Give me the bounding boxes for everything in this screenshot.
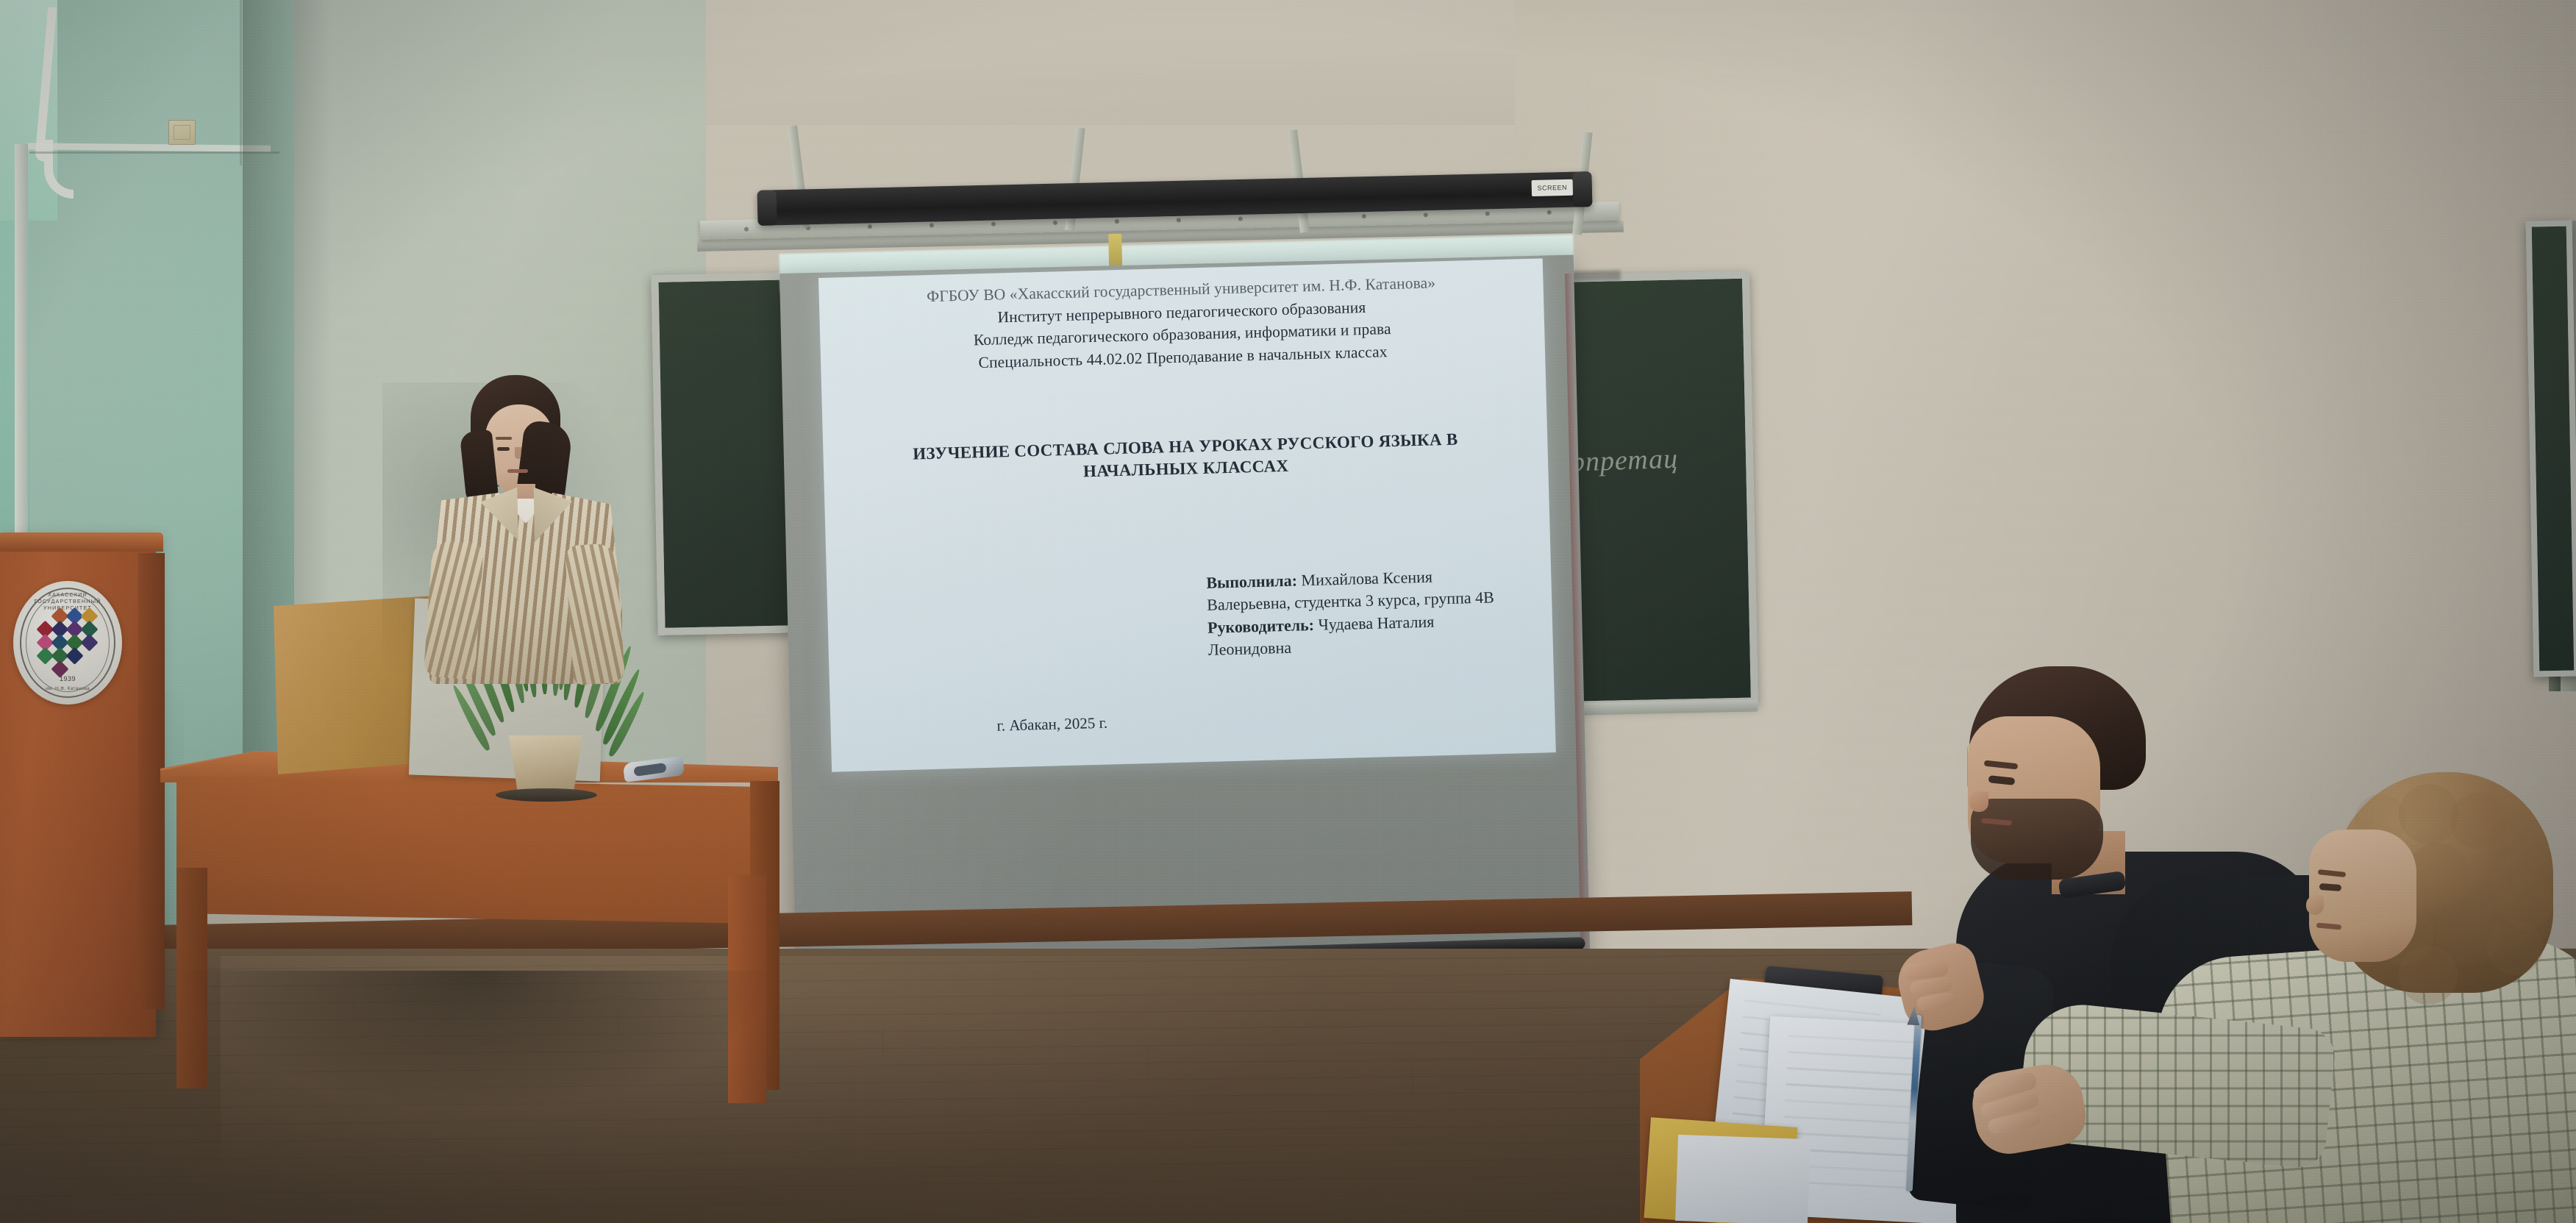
man-beard	[1971, 799, 2103, 880]
roller-cap-left	[757, 190, 777, 226]
classroom-photo-scene: интерпретац SCREEN ФГБОУ ВО «Хакасский г…	[0, 0, 2576, 1223]
presenter-nose	[515, 447, 521, 459]
bracket-hole	[1053, 221, 1057, 225]
emblem-diamond-grid	[39, 610, 96, 673]
emblem-diamond-11	[80, 634, 98, 652]
bracket-hole	[1177, 218, 1181, 222]
paper-ruled-line	[1788, 1035, 1918, 1044]
window-jamb	[15, 144, 28, 600]
folder-sheet	[1675, 1135, 1810, 1223]
slide-performer-label: Выполнила:	[1206, 571, 1297, 591]
presenter-eye-left	[497, 447, 510, 451]
bracket-hole	[868, 224, 872, 229]
slide-city-year: г. Абакан, 2025 г.	[996, 703, 1521, 735]
bracket-hole	[991, 222, 996, 227]
woman-hair-curl	[2399, 784, 2459, 844]
floor-plank-seam	[1412, 1066, 1413, 1096]
emblem-arc-text: ХАКАССКИЙ ГОСУДАРСТВЕННЫЙ УНИВЕРСИТЕТ	[15, 591, 120, 611]
emblem-diamond-14	[65, 647, 83, 665]
chalkboard-far-right	[2526, 220, 2576, 677]
power-outlet-left	[168, 120, 196, 145]
slide-supervisor-label: Руководитель:	[1207, 616, 1315, 637]
bracket-hole	[1485, 212, 1490, 216]
plant-pot	[504, 735, 587, 793]
university-emblem: ХАКАССКИЙ ГОСУДАРСТВЕННЫЙ УНИВЕРСИТЕТ 19…	[13, 581, 122, 705]
woman-face	[2309, 830, 2416, 962]
woman-nose	[2306, 896, 2324, 915]
slide-title: ИЗУЧЕНИЕ СОСТАВА СЛОВА НА УРОКАХ РУССКОГ…	[857, 427, 1514, 489]
bracket-hole	[1238, 217, 1243, 221]
wall-vertical-seam	[240, 0, 242, 165]
man-nose	[1969, 791, 1988, 812]
presenter-brow-left	[496, 437, 512, 440]
plant-saucer	[496, 788, 597, 802]
presenter-mouth	[507, 469, 528, 473]
woman-hair-curl	[2487, 919, 2543, 975]
screen-brand-label: SCREEN	[1532, 179, 1573, 196]
emblem-year: 1939	[13, 675, 122, 682]
slide-header: ФГБОУ ВО «Хакасский государственный унив…	[852, 270, 1511, 377]
paper-ruled-line	[1744, 999, 1881, 1016]
bracket-hole	[1424, 213, 1428, 217]
slide-performer-line: Выполнила: Михайлова Ксения Валерьевна, …	[1206, 563, 1518, 616]
presenter	[412, 368, 632, 691]
slide-authors-block: Выполнила: Михайлова Ксения Валерьевна, …	[1206, 563, 1519, 661]
projected-slide: ФГБОУ ВО «Хакасский государственный унив…	[818, 258, 1556, 771]
roller-cap-right	[1572, 171, 1592, 207]
presenter-arm-right	[564, 543, 625, 685]
bracket-hole	[1362, 214, 1366, 218]
bracket-hole	[1115, 219, 1119, 224]
woman-hair-curl	[2399, 946, 2458, 1005]
wall-seam	[29, 151, 279, 154]
bracket-hole	[744, 227, 749, 232]
presenter-arm-left	[424, 540, 485, 680]
lectern-top	[0, 532, 163, 552]
desk-shadow	[176, 971, 779, 1110]
bracket-hole	[1547, 210, 1552, 215]
slide-supervisor-line: Руководитель: Чудаева Наталия Леонидовна	[1207, 608, 1519, 661]
seated-attendee-woman	[2265, 772, 2576, 1223]
emblem-sub-text: им. Н.Ф. Катанова	[13, 686, 122, 691]
bracket-hole	[930, 223, 934, 227]
